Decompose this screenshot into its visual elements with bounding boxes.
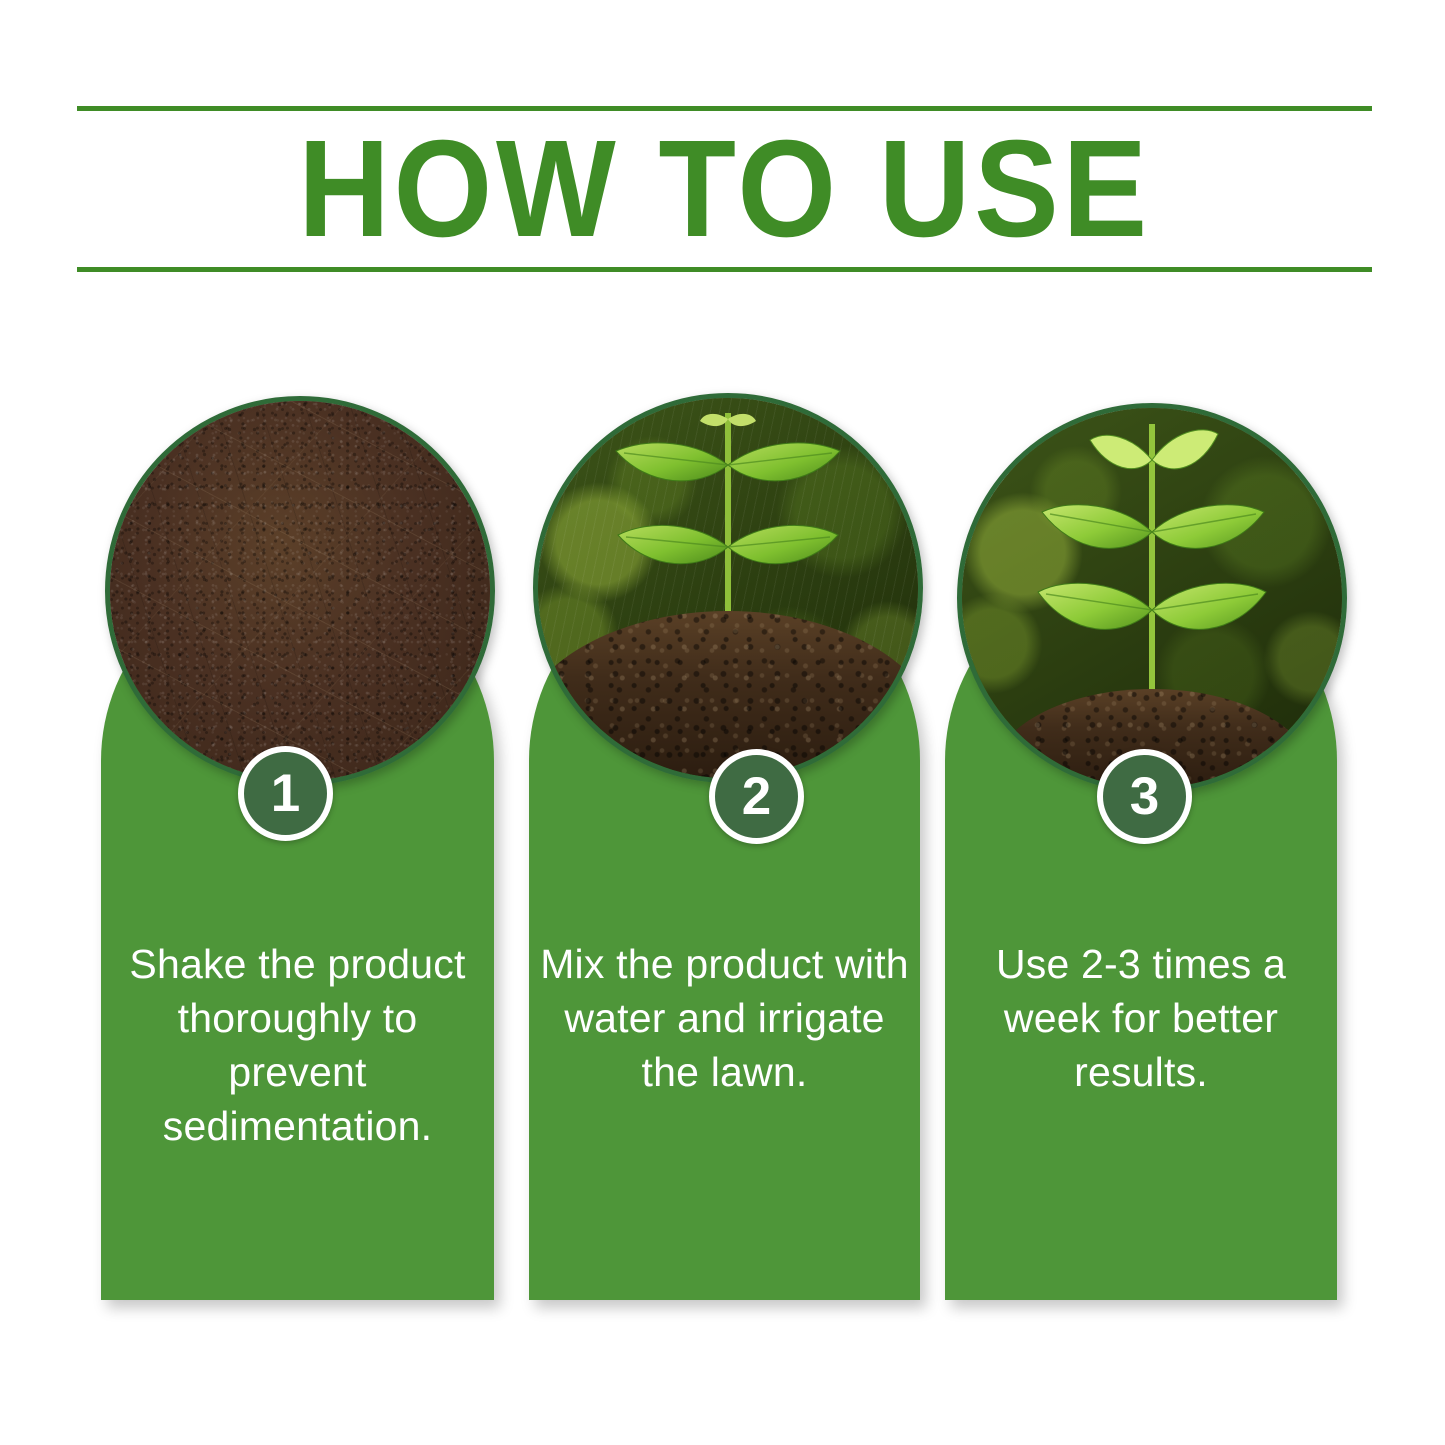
seedling-illustration-2 bbox=[588, 407, 868, 637]
grown-seedling-photo bbox=[957, 403, 1347, 793]
step-card-1: 1 Shake the product thoroughly to preven… bbox=[101, 565, 494, 1300]
step-card-3: 3 Use 2-3 times a week for better result… bbox=[945, 565, 1337, 1300]
step-number-badge-3: 3 bbox=[1097, 749, 1192, 844]
seedling-illustration-3 bbox=[1002, 414, 1302, 704]
step-description-3: Use 2-3 times a week for better results. bbox=[953, 937, 1329, 1099]
soil-texture-fill bbox=[110, 401, 490, 781]
seedling-on-soil-mound-photo bbox=[533, 393, 923, 783]
step-number-badge-1: 1 bbox=[238, 746, 333, 841]
step-number-badge-2: 2 bbox=[709, 749, 804, 844]
steps-container: 1 Shake the product thoroughly to preven… bbox=[0, 0, 1445, 1445]
step-description-1: Shake the product thoroughly to prevent … bbox=[109, 937, 486, 1153]
soil-texture-photo bbox=[105, 396, 495, 786]
step-card-2: 2 Mix the product with water and irrigat… bbox=[529, 565, 920, 1300]
step-description-2: Mix the product with water and irrigate … bbox=[537, 937, 912, 1099]
